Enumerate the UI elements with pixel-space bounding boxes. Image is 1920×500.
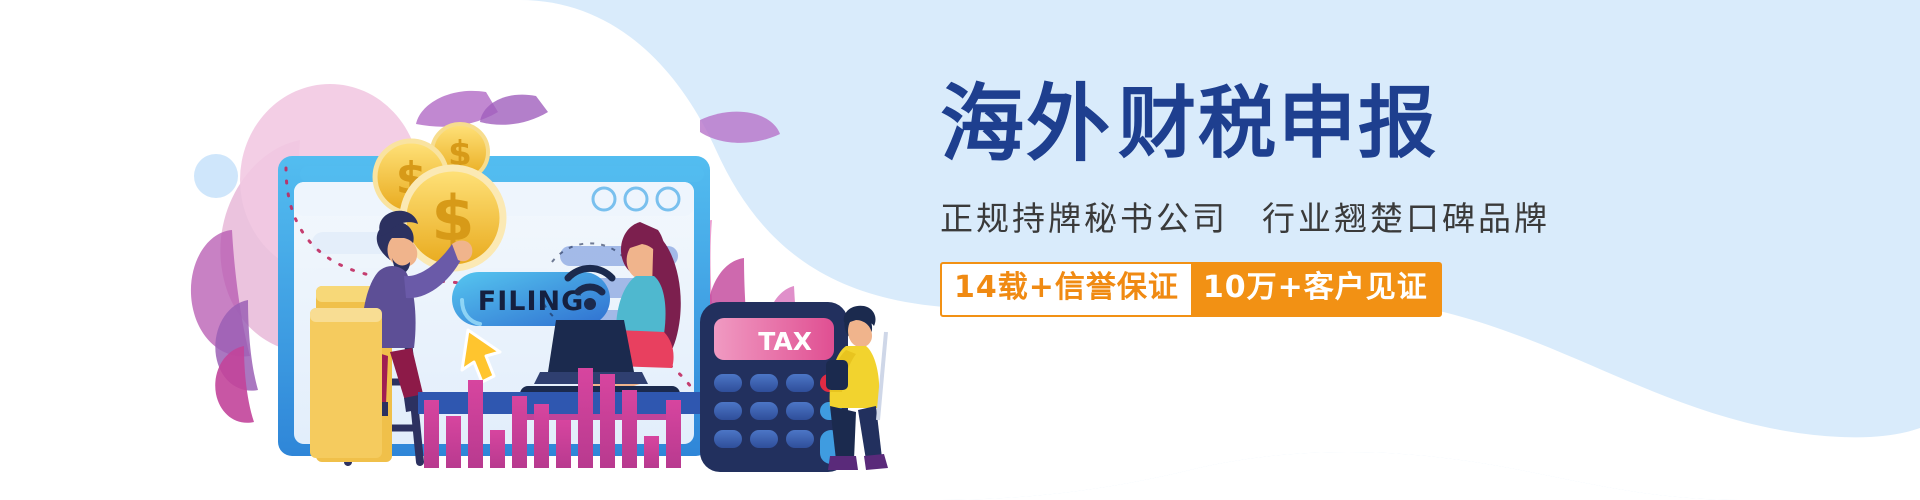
subtitle: 正规持牌秘书公司行业翘楚口碑品牌 bbox=[940, 192, 1840, 240]
headline-part-1: 海外 bbox=[940, 82, 1112, 166]
promo-banner: $ $ $ bbox=[0, 0, 1920, 500]
status-badge-customers: 10万+客户见证 bbox=[1191, 264, 1440, 315]
status-badge-credit: 14载+信誉保证 bbox=[942, 264, 1191, 315]
subtitle-right: 行业翘楚口碑品牌 bbox=[1262, 199, 1550, 238]
subtitle-left: 正规持牌秘书公司 bbox=[940, 199, 1228, 238]
badge-group: 14载+信誉保证 10万+客户见证 bbox=[940, 262, 1442, 317]
copy-block: 海外财税申报 正规持牌秘书公司行业翘楚口碑品牌 14载+信誉保证 10万+客户见… bbox=[940, 72, 1840, 432]
filing-button[interactable]: FILING bbox=[452, 272, 610, 326]
calculator: TAX bbox=[700, 302, 848, 472]
headline-part-2: 财税申报 bbox=[1118, 85, 1438, 163]
filing-button-label: FILING bbox=[478, 286, 585, 317]
hero-illustration: $ $ $ bbox=[0, 0, 1000, 500]
document-stack bbox=[310, 308, 382, 458]
page-title: 海外财税申报 bbox=[940, 72, 1840, 176]
calculator-display-label: TAX bbox=[758, 327, 812, 356]
